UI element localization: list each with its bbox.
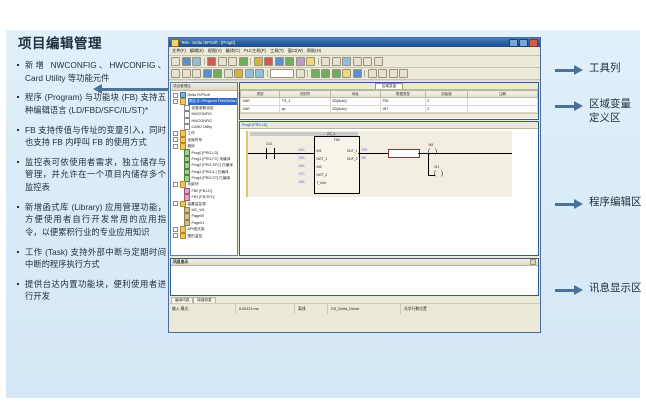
callout-label: 工具列 — [589, 62, 621, 76]
menu-item-compile[interactable]: 编译(C) — [226, 48, 240, 54]
replace-icon[interactable] — [353, 57, 362, 66]
document-icon — [184, 111, 191, 118]
ladder-rung[interactable]: D10 ZZ_1 FB0 IN1 NOT_1 IN2 NOT_2 T_Inst — [246, 131, 512, 197]
application-window: Test - Delta ISPSoft - [Prog0] 文件(F) 编辑(… — [168, 37, 541, 333]
coil-paren-left: ( — [434, 170, 436, 179]
arrow-head — [93, 84, 102, 94]
menu-item-file[interactable]: 文件(F) — [172, 48, 186, 54]
expander-icon — [179, 158, 182, 161]
editor-tabbar[interactable]: Prog0 [PRG,LD] — [240, 122, 538, 129]
list-item: 提供台达内置功能块，便利使用者进行开发 — [16, 278, 166, 303]
folder-icon — [180, 130, 187, 137]
expander-icon — [179, 196, 182, 199]
print-preview-icon[interactable] — [218, 57, 227, 66]
toolbar-separator — [204, 58, 205, 65]
compile-icon[interactable] — [254, 57, 263, 66]
callout-toolbar: 工具列 — [555, 62, 621, 76]
message-panel-body[interactable] — [171, 266, 538, 296]
cell-identifier[interactable]: sp — [280, 105, 330, 113]
arrow-right-icon — [555, 65, 583, 76]
contact-no-icon[interactable] — [171, 69, 180, 78]
cut-icon[interactable] — [228, 57, 237, 66]
cell-initial[interactable]: 0 — [425, 98, 467, 106]
window-buttons[interactable] — [509, 39, 538, 47]
save-icon[interactable] — [192, 57, 201, 66]
arrow-shaft — [555, 69, 575, 72]
output-instruction-box[interactable] — [388, 149, 420, 158]
close-button[interactable] — [529, 39, 538, 47]
message-panel-header: 讯息显示 — [171, 259, 538, 266]
coil-label: M1 — [435, 165, 440, 169]
column-header-initial: 初始值 — [425, 91, 467, 98]
folder-icon — [180, 233, 187, 240]
work-area: 项目管理区 Delta ISPSoft 项目 [C:\Program Files… — [169, 80, 540, 257]
expander-icon — [179, 119, 182, 122]
menu-item-plc[interactable]: PLC主机(P) — [244, 48, 266, 54]
fb-input-tag-3[interactable]: D60 — [298, 164, 305, 168]
expander-icon — [179, 190, 182, 193]
callout-arrow-left-icon — [93, 84, 178, 95]
callout-program-editor: 程序编辑区 — [555, 196, 642, 210]
toolbar-separator — [364, 70, 365, 77]
expander-icon[interactable] — [173, 201, 178, 206]
status-device: DS_Delta_Driver — [328, 304, 401, 314]
window-title: Test - Delta ISPSoft - [Prog0] — [181, 40, 507, 46]
expander-icon — [179, 222, 182, 225]
status-bar: 输入 模式 : 0.00113 ms 离线 DS_Delta_Driver 光学… — [169, 303, 540, 314]
close-icon[interactable] — [530, 259, 536, 265]
table-header-row: 类型 识别符 地址 数据类型 初始值 注解 — [241, 91, 538, 98]
contact-nc-icon[interactable] — [182, 69, 191, 78]
upload-icon[interactable] — [275, 57, 284, 66]
minimize-button[interactable] — [509, 39, 518, 47]
callout-label: 程序编辑区 — [589, 196, 642, 210]
download-icon[interactable] — [264, 57, 273, 66]
expander-icon[interactable] — [173, 137, 178, 142]
table-row[interactable]: VAR TS_1 SD[Auto] PID 0 — [241, 98, 538, 106]
message-panel-title: 讯息显示 — [173, 260, 188, 265]
toolbar-secondary[interactable] — [169, 68, 540, 80]
fb-output-pin-1[interactable]: OUT_1 — [347, 149, 358, 153]
output-wire — [358, 153, 388, 154]
copy-icon[interactable] — [239, 57, 248, 66]
maximize-button[interactable] — [519, 39, 528, 47]
new-icon[interactable] — [171, 57, 180, 66]
callout-label: 讯息显示区 — [589, 282, 642, 296]
coil-wire — [418, 153, 428, 154]
print-icon[interactable] — [207, 57, 216, 66]
contact-label: D10 — [266, 142, 272, 146]
cell-address[interactable]: SD[Auto] — [330, 98, 380, 106]
breakpoint-icon[interactable] — [378, 69, 387, 78]
expander-icon[interactable] — [173, 144, 178, 149]
program-icon — [184, 162, 191, 169]
column-header-comment: 注解 — [467, 91, 537, 98]
coil-output-2[interactable]: M1 ( ) — [434, 170, 443, 179]
fb-input-pin-1[interactable]: IN1 — [317, 149, 322, 153]
arrow-right-icon — [555, 199, 583, 210]
arrow-head — [574, 285, 583, 295]
expander-icon — [179, 151, 182, 154]
fb-input-tag-4[interactable]: D70 — [298, 172, 305, 176]
stop-icon[interactable] — [296, 57, 305, 66]
column-header-address: 地址 — [330, 91, 380, 98]
list-item: 程序 (Program) 与功能块 (FB) 支持五种编辑语言 (LD/FBD/… — [16, 91, 166, 116]
column-header-datatype: 数据类型 — [381, 91, 426, 98]
expander-icon — [179, 113, 182, 116]
arrow-shaft — [555, 105, 575, 108]
coil-output-1[interactable]: M5 ( ) — [428, 148, 437, 157]
coil-icon[interactable] — [192, 69, 201, 78]
fb-input-tag-5[interactable]: D80 — [298, 180, 305, 184]
column-header-class: 类型 — [241, 91, 280, 98]
fb-input-pin-3[interactable]: IN2 — [317, 165, 322, 169]
program-icon — [184, 149, 191, 156]
cell-initial[interactable]: 0 — [425, 105, 467, 113]
cell-datatype[interactable]: PID — [381, 98, 426, 106]
step-icon[interactable] — [368, 69, 377, 78]
expander-icon — [179, 164, 182, 167]
tree-node-label: 图形监控 — [188, 233, 203, 239]
menu-item-edit[interactable]: 编辑(E) — [190, 48, 204, 54]
expander-icon — [179, 215, 182, 218]
coil-label: M5 — [429, 143, 434, 147]
status-mode: 输入 模式 : — [169, 304, 236, 314]
coil-paren-right: ) — [435, 148, 437, 157]
folder-icon — [180, 98, 187, 105]
expander-icon — [179, 177, 182, 180]
expander-icon[interactable] — [173, 227, 178, 232]
chevron-down-icon[interactable] — [296, 69, 305, 78]
open-icon[interactable] — [182, 57, 191, 66]
status-position: 光学行数位置 — [401, 304, 540, 314]
app-icon — [171, 39, 179, 47]
cell-comment[interactable] — [467, 105, 537, 113]
tab-compile-messages[interactable]: 编译讯息 — [171, 297, 193, 304]
watch-icon[interactable] — [389, 69, 398, 78]
expander-icon[interactable] — [173, 131, 178, 136]
list-item: FB 支持传值与传址的变量引入，同时也支持 FB 内呼叫 FB 的使用方式 — [16, 124, 166, 149]
toolbar-separator — [250, 58, 251, 65]
variable-table-tabbar[interactable]: 区域变量 — [240, 83, 538, 90]
menu-item-tools[interactable]: 工具(T) — [270, 48, 284, 54]
block-icon[interactable] — [224, 69, 233, 78]
variable-grid[interactable]: 类型 识别符 地址 数据类型 初始值 注解 VAR TS_1 — [240, 90, 538, 113]
toolbar-separator — [267, 70, 268, 77]
title-bar: Test - Delta ISPSoft - [Prog0] — [169, 38, 540, 47]
fb-output-pin-2[interactable]: OUT_2 — [347, 157, 358, 161]
status-scan-time: 0.00113 ms — [236, 304, 295, 314]
comment-icon[interactable] — [234, 69, 243, 78]
search-next-icon[interactable] — [255, 69, 264, 78]
toolbar-separator — [307, 70, 308, 77]
settings-icon[interactable] — [374, 57, 383, 66]
arrow-head — [574, 65, 583, 75]
callout-variable-area: 区域变量 定义区 — [555, 98, 631, 125]
list-item: 新增 NWCONFIG、HWCONFIG、Card Utility 等功能元件 — [16, 59, 166, 84]
branch-icon[interactable] — [203, 69, 212, 78]
expander-icon[interactable] — [173, 93, 178, 98]
expander-icon — [179, 170, 182, 173]
cell-address[interactable]: SD[Auto] — [330, 105, 380, 113]
align-right-icon[interactable] — [332, 69, 341, 78]
coil-paren-left: ( — [428, 148, 430, 157]
contact-bar-right — [274, 148, 275, 159]
folder-icon — [180, 181, 187, 188]
zoom-level-select[interactable] — [270, 69, 294, 78]
slide-root: 项目编辑管理 新增 NWCONFIG、HWCONFIG、Card Utility… — [0, 0, 646, 401]
expander-icon — [179, 209, 182, 212]
page-title: 项目编辑管理 — [18, 36, 166, 52]
fb-input-pin-2[interactable]: NOT_1 — [317, 157, 328, 161]
fb-output-tag-1[interactable]: D90 — [361, 148, 368, 152]
expander-icon[interactable] — [173, 99, 178, 104]
highlight-icon[interactable] — [342, 69, 351, 78]
arrow-shaft — [555, 203, 575, 206]
table-icon — [184, 213, 191, 220]
editor-column: 区域变量 类型 识别符 地址 数据类型 初始值 注解 — [239, 82, 539, 256]
folder-icon — [180, 226, 187, 233]
align-center-icon[interactable] — [321, 69, 330, 78]
list-item: 监控表可依使用者需求，独立储存与管理，并允许在一个项目内储存多个监控表 — [16, 156, 166, 194]
tab-prog0[interactable]: Prog0 [PRG,LD] — [242, 123, 267, 127]
expander-icon[interactable] — [173, 182, 178, 187]
message-output-panel[interactable]: 讯息显示 — [170, 258, 539, 296]
local-variable-table[interactable]: 区域变量 类型 识别符 地址 数据类型 初始值 注解 — [239, 82, 539, 120]
arrow-shaft — [102, 88, 178, 91]
fb-input-tag-1[interactable]: D40 — [298, 148, 305, 152]
toolbar-primary[interactable] — [169, 56, 540, 68]
arrow-head — [574, 199, 583, 209]
cell-comment[interactable] — [467, 98, 537, 106]
tree-node-graphic-monitor[interactable]: 图形监控 — [172, 233, 237, 239]
ladder-program-editor[interactable]: Prog0 [PRG,LD] D10 ZZ_1 FB0 — [239, 121, 539, 256]
arrow-shaft — [555, 289, 575, 292]
fb-input-tag-2[interactable]: D50 — [298, 156, 305, 160]
library-icon[interactable] — [399, 69, 408, 78]
expander-icon[interactable] — [173, 233, 178, 238]
list-item: 新增函式库 (Library) 应用管理功能，方便使用者自行开发常用的应用指令，… — [16, 201, 166, 239]
feature-bullet-list: 新增 NWCONFIG、HWCONFIG、Card Utility 等功能元件 … — [16, 59, 166, 303]
cell-identifier[interactable]: TS_1 — [280, 98, 330, 106]
project-tree-body[interactable]: Delta ISPSoft 项目 [C:\Program Files\Delta… — [171, 91, 237, 239]
network-icon[interactable] — [353, 69, 362, 78]
fb-input-pin-5[interactable]: T_Inst — [317, 181, 326, 185]
project-tree-header: 项目管理区 — [171, 83, 237, 91]
fb-output-tag-2[interactable]: M0 — [361, 156, 366, 160]
zoom-in-icon[interactable] — [321, 57, 330, 66]
grid-icon[interactable] — [363, 57, 372, 66]
vertical-line-icon[interactable] — [213, 69, 222, 78]
menu-item-help[interactable]: 帮助(H) — [307, 48, 321, 54]
status-state: 离线 — [295, 304, 328, 314]
arrow-head — [574, 101, 583, 111]
callout-message-area: 讯息显示区 — [555, 282, 642, 296]
project-tree-panel[interactable]: 项目管理区 Delta ISPSoft 项目 [C:\Program Files… — [170, 82, 238, 256]
toolbar-separator — [318, 58, 319, 65]
run-icon[interactable] — [285, 57, 294, 66]
contact-normally-open[interactable]: D10 — [266, 148, 275, 159]
menu-bar[interactable]: 文件(F) 编辑(E) 视图(V) 编译(C) PLC主机(P) 工具(T) 窗… — [169, 47, 540, 56]
fb-input-pin-4[interactable]: NOT_2 — [317, 173, 328, 177]
tab-debug-messages[interactable]: 除错讯息 — [193, 297, 215, 304]
function-block-instance[interactable]: ZZ_1 FB0 IN1 NOT_1 IN2 NOT_2 T_Inst OUT_… — [314, 136, 360, 194]
feature-column: 项目编辑管理 新增 NWCONFIG、HWCONFIG、Card Utility… — [16, 36, 166, 310]
coil-paren-right: ) — [441, 170, 443, 179]
find-icon[interactable] — [342, 57, 351, 66]
zoom-out-icon[interactable] — [332, 57, 341, 66]
cell-class[interactable]: VAR — [241, 105, 280, 113]
menu-item-window[interactable]: 窗口(W) — [288, 48, 303, 54]
function-block-instance-name: ZZ_1 — [327, 132, 335, 136]
column-header-identifier: 识别符 — [280, 91, 330, 98]
expander-icon — [179, 106, 182, 109]
menu-item-view[interactable]: 视图(V) — [208, 48, 222, 54]
function-block-type: FB0 — [315, 138, 359, 142]
cell-class[interactable]: VAR — [241, 98, 280, 106]
callout-label: 区域变量 定义区 — [589, 98, 631, 125]
list-item: 工作 (Task) 支持外部中断与定期时间中断的程序执行方式 — [16, 246, 166, 271]
arrow-right-icon — [555, 285, 583, 296]
arrow-right-icon — [555, 101, 583, 112]
variable-table-scrollbar[interactable] — [240, 113, 538, 118]
cell-datatype[interactable]: INT — [381, 105, 426, 113]
search-icon[interactable] — [245, 69, 254, 78]
expander-icon — [179, 126, 182, 129]
tab-local-variables[interactable]: 区域变量 — [375, 83, 403, 90]
monitor-icon[interactable] — [306, 57, 315, 66]
align-left-icon[interactable] — [311, 69, 320, 78]
contact-bar-left — [266, 148, 267, 159]
table-row[interactable]: VAR sp SD[Auto] INT 0 — [241, 105, 538, 113]
